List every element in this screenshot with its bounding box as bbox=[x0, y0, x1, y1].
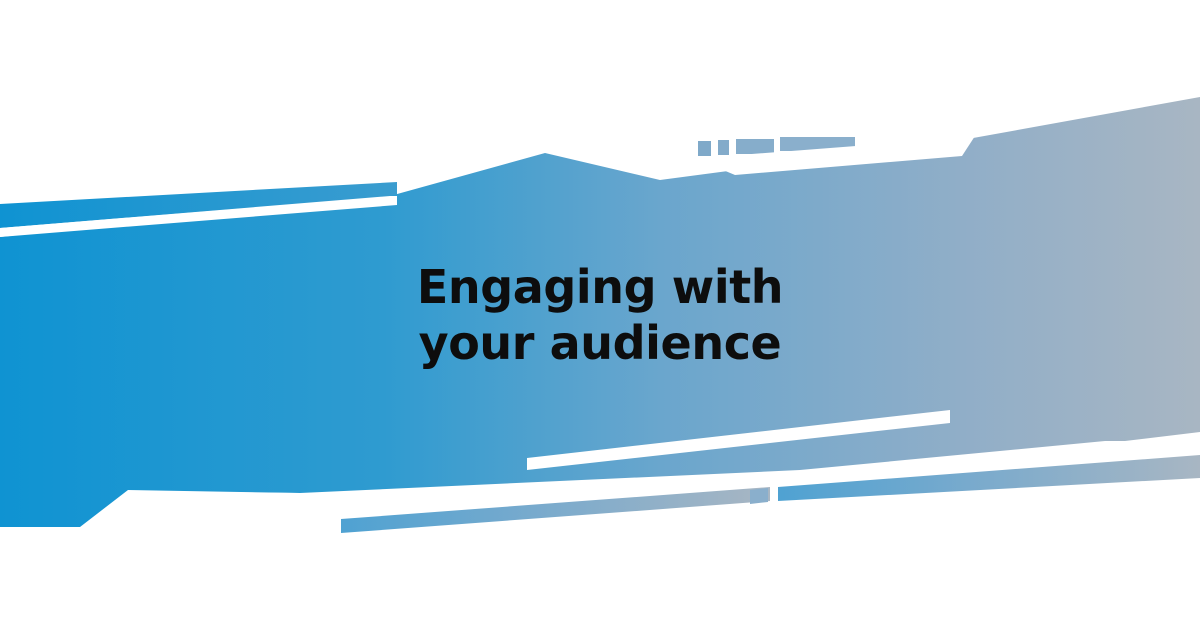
bottom-right-dash bbox=[750, 488, 768, 504]
banner-decorative-graphic bbox=[0, 0, 1200, 630]
dash-square-1 bbox=[698, 141, 711, 156]
dash-square-2 bbox=[718, 140, 729, 155]
bottom-white-field bbox=[0, 545, 1200, 630]
dash-bar-3 bbox=[736, 139, 774, 154]
detached-blue-bar bbox=[341, 487, 770, 533]
banner-card: Engaging with your audience bbox=[0, 0, 1200, 630]
main-angled-band bbox=[0, 97, 1200, 527]
